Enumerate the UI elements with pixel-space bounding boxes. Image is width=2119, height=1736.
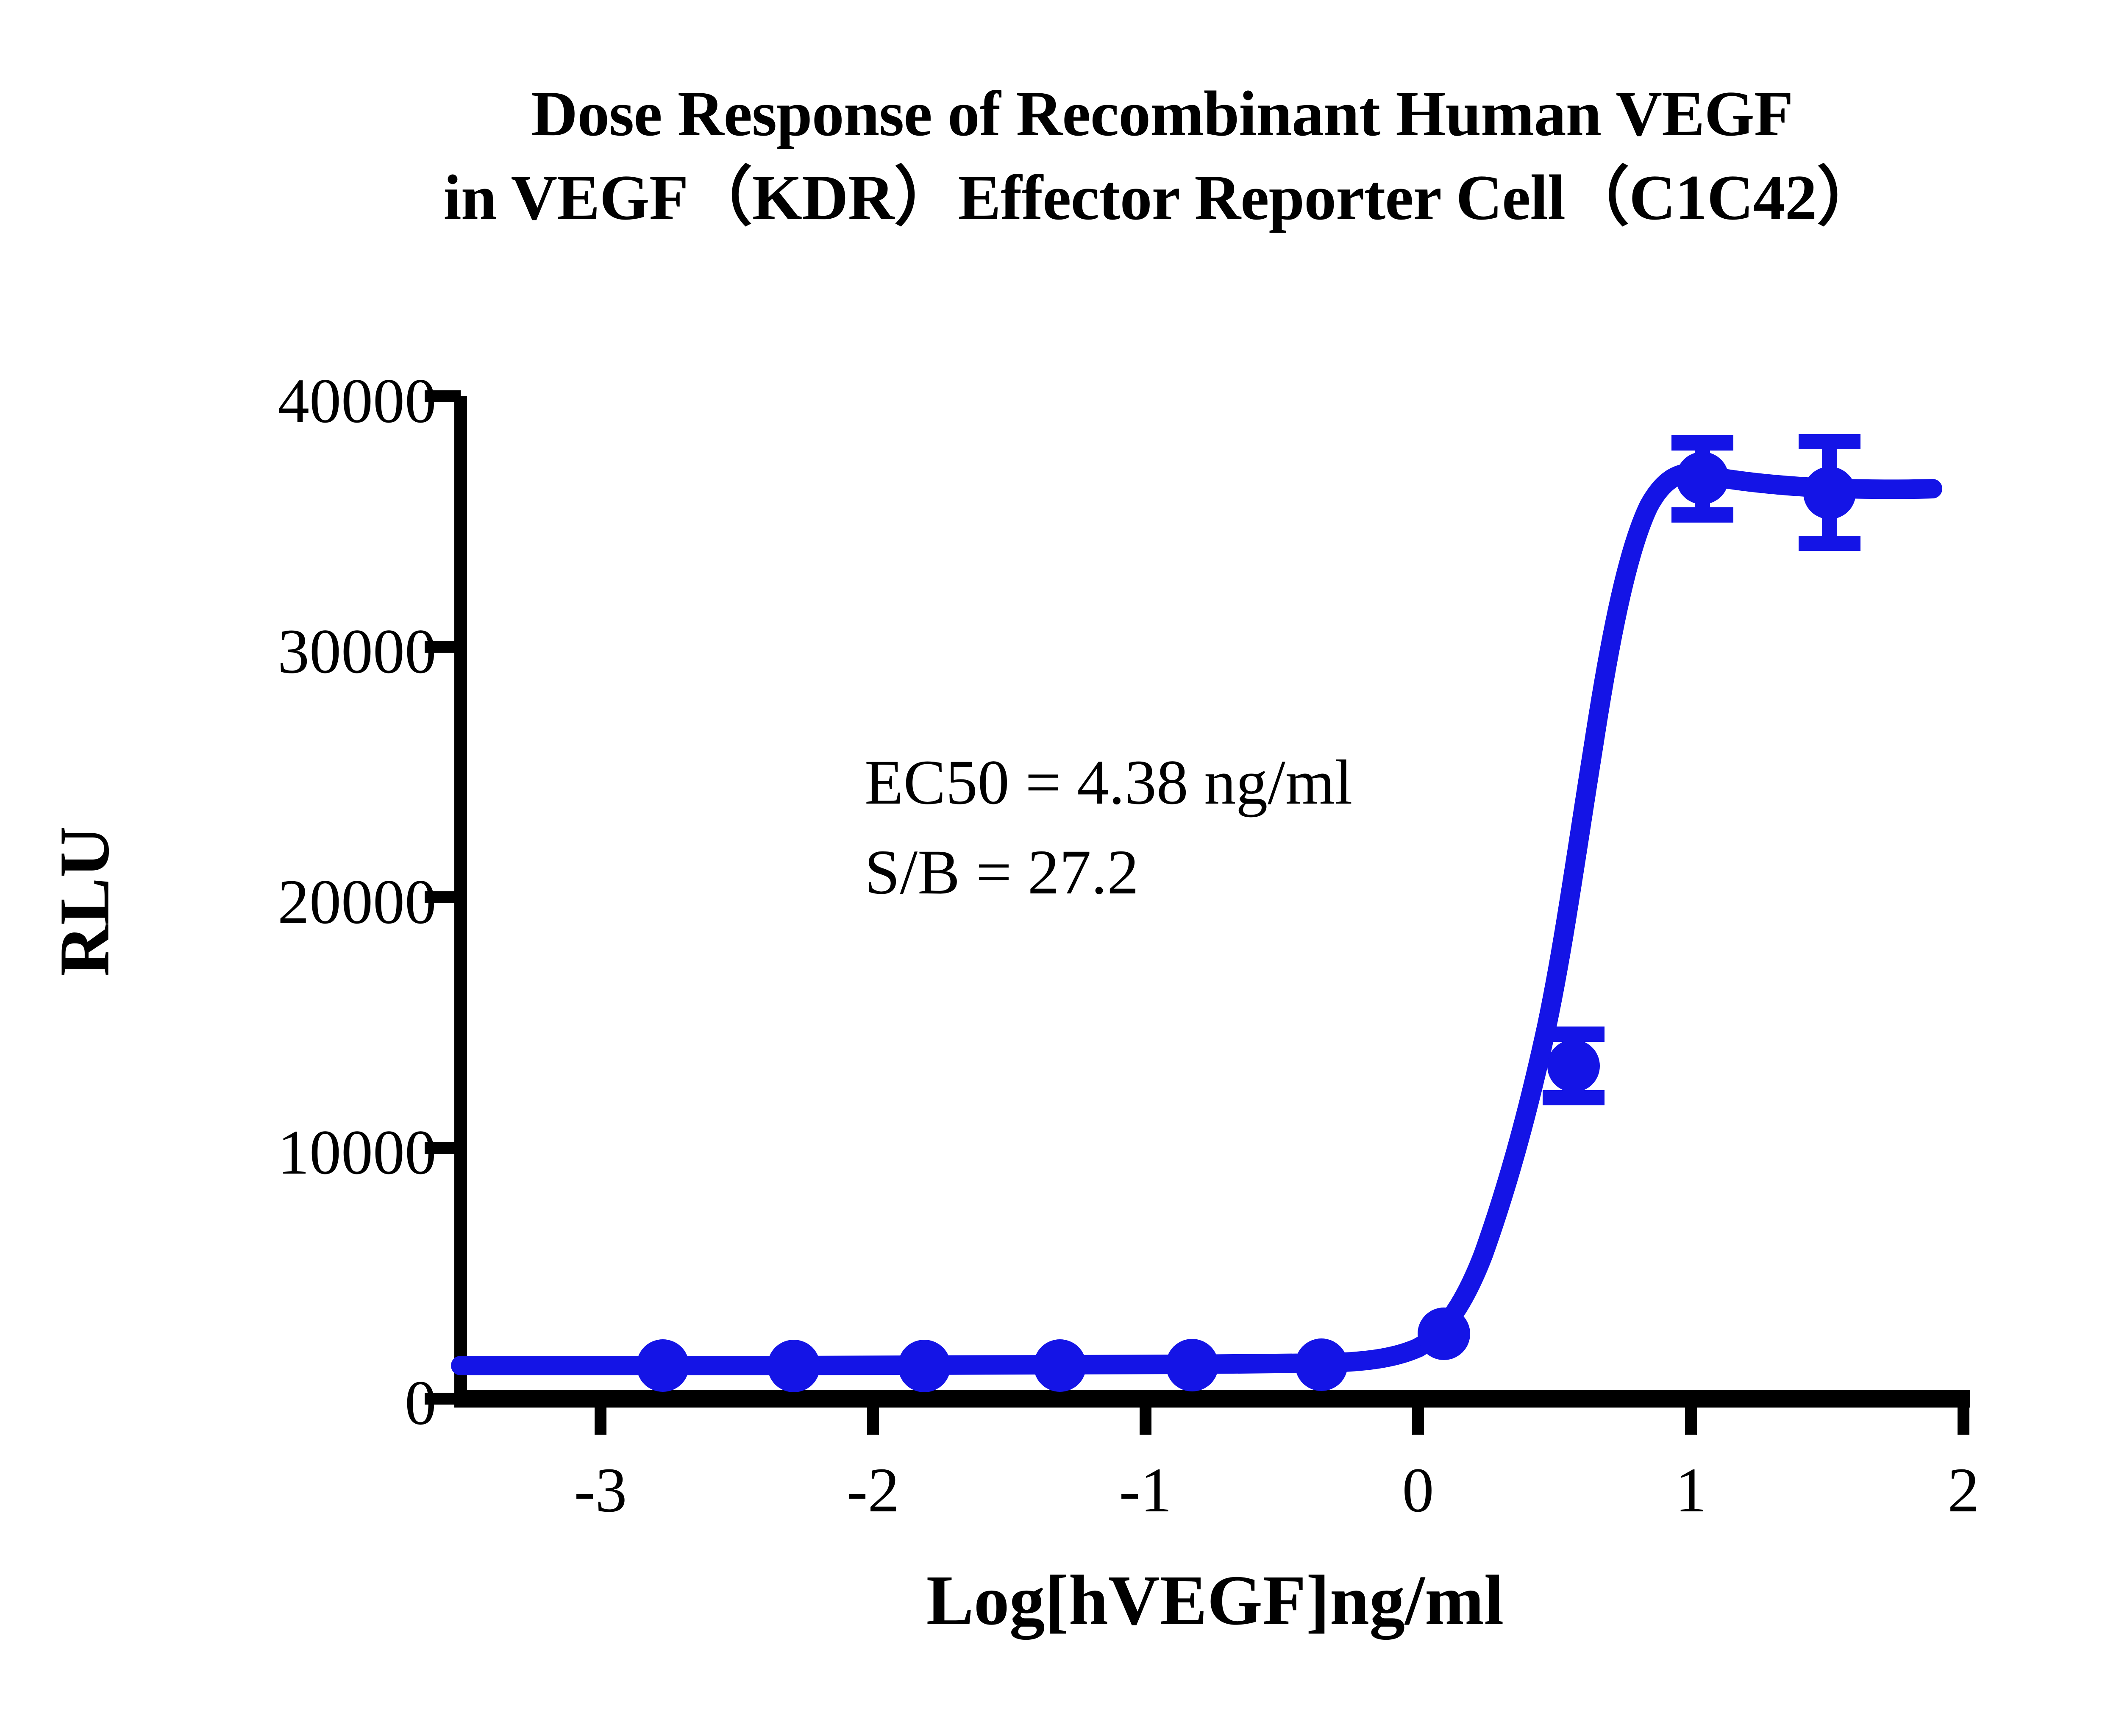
- data-point: [1803, 467, 1856, 519]
- data-point: [1547, 1040, 1600, 1092]
- data-point: [1034, 1339, 1086, 1392]
- axis-lines: [454, 396, 1970, 1399]
- data-point: [1295, 1338, 1348, 1391]
- figure-root: Dose Response of Recombinant Human VEGF …: [0, 0, 2119, 1736]
- data-point: [1418, 1308, 1470, 1360]
- fit-curve: [461, 473, 1933, 1366]
- data-points: [637, 452, 1856, 1392]
- data-point: [768, 1340, 820, 1392]
- data-point: [637, 1339, 689, 1392]
- plot-canvas: [0, 0, 2119, 1736]
- data-point: [898, 1340, 951, 1392]
- data-point: [1676, 452, 1729, 504]
- data-point: [1166, 1339, 1218, 1391]
